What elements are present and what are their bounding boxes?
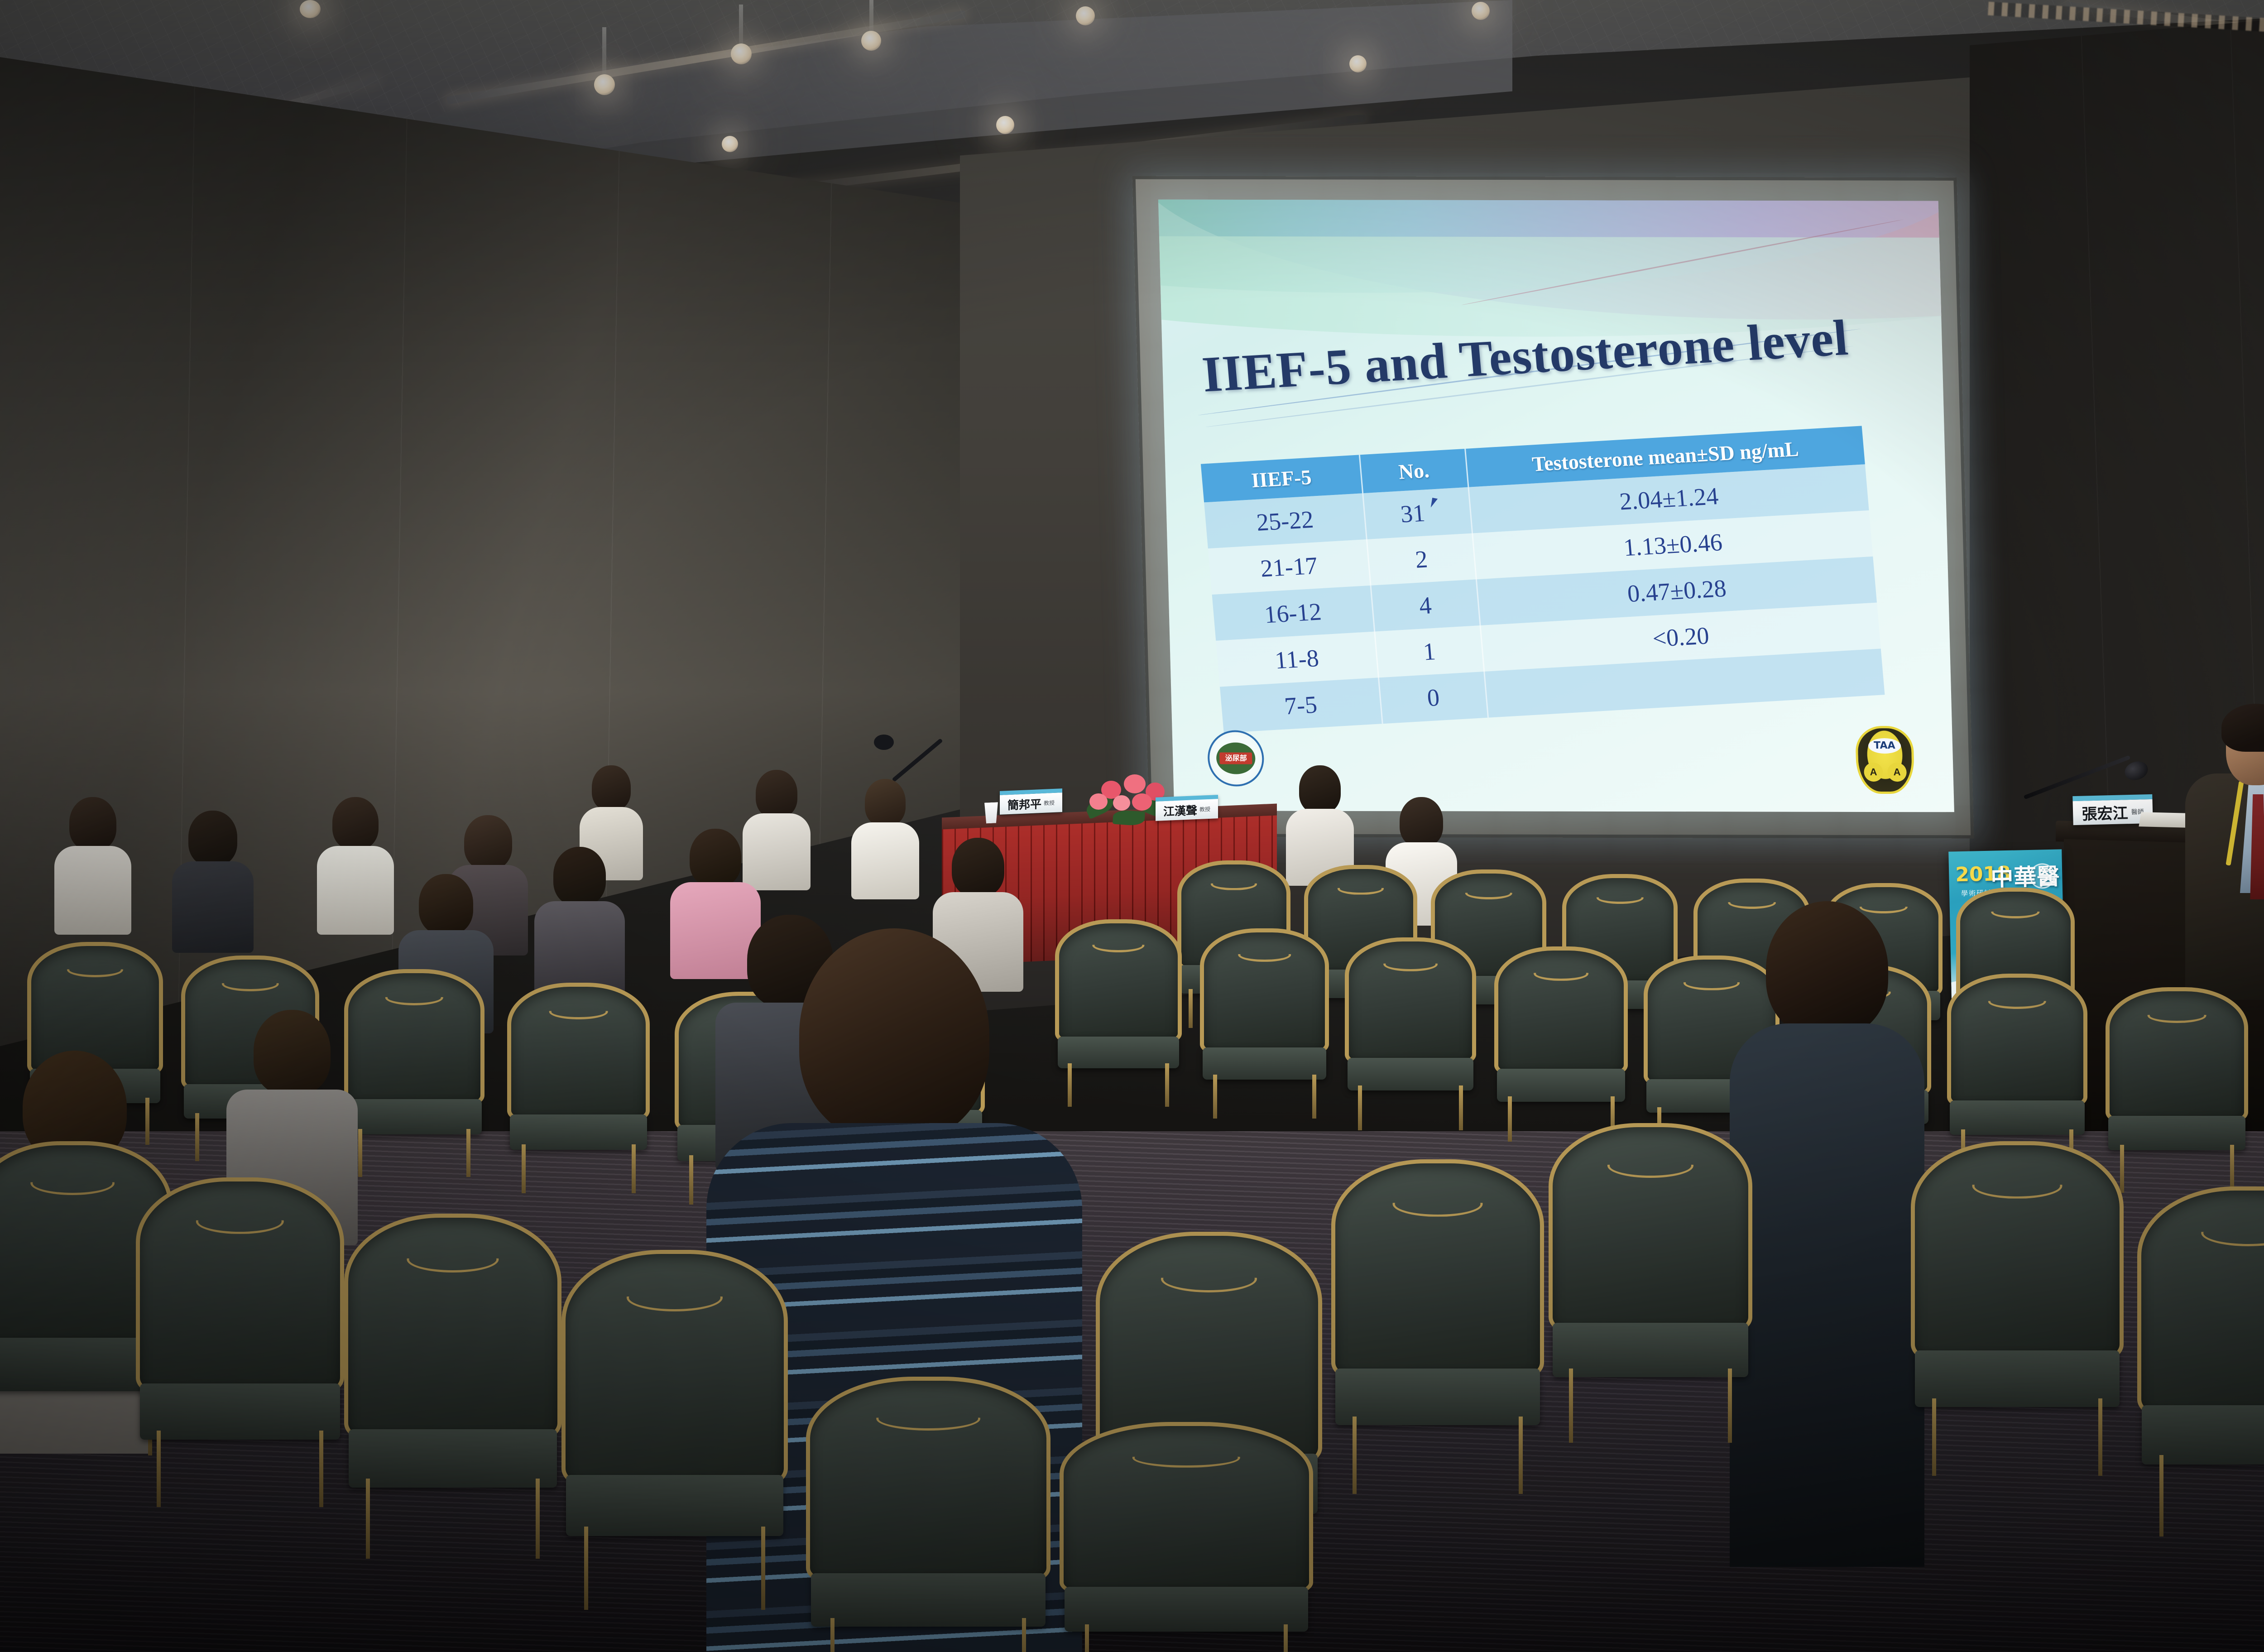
cell-no: 2 [1367,533,1476,586]
nameplate-name: 江漢聲 [1163,802,1197,819]
chair[interactable] [1200,928,1329,1098]
chair[interactable] [1549,1123,1752,1408]
audience-member-foreground [1730,901,1924,1580]
nameplate-title: 教授 [1199,805,1210,813]
cell-iief5: 11-8 [1216,632,1378,687]
pendant-downlight [861,31,881,51]
pendant-downlight [1472,2,1490,20]
chair[interactable] [561,1250,788,1571]
chair[interactable] [1911,1141,2124,1440]
taa-circle-left: A [1864,762,1883,781]
logo-oval: 泌尿部 [1216,742,1256,774]
pendant-stem [602,27,606,77]
cell-iief5: 7-5 [1220,677,1382,733]
projected-slide: IIEF-5 and Testosterone level IIEF-5 No.… [1158,200,1954,812]
chair[interactable] [1947,974,2087,1155]
ntuh-urology-logo-icon: 泌尿部 [1207,730,1265,786]
chair[interactable] [1331,1159,1544,1458]
pendant-downlight [722,136,738,152]
pendant-downlight [1076,6,1095,25]
pendant-downlight [594,74,615,95]
audience-member [851,779,919,897]
taa-circle-right: A [1887,763,1907,782]
cell-no: 1 [1374,625,1484,677]
speaker-name: 張宏江 [2082,801,2128,824]
pendant-downlight [300,0,321,18]
cell-iief5: 25-22 [1204,493,1367,548]
taa-andrology-logo-icon: TAA A A [1855,725,1915,793]
pendant-downlight [996,116,1014,134]
chair[interactable] [1494,946,1628,1121]
cell-iief5: 16-12 [1212,586,1374,641]
cell-no: 4 [1371,579,1480,631]
chair[interactable] [2106,987,2248,1171]
taa-center-text: TAA [1868,738,1901,754]
microphone-head-icon [874,735,894,750]
testosterone-table: IIEF-5 No. Testosterone mean±SD ng/mL 25… [1201,426,1885,733]
presenter [2169,684,2264,1001]
conference-room-scene: IIEF-5 and Testosterone level IIEF-5 No.… [0,0,2264,1652]
pendant-stem [739,5,743,46]
pendant-downlight [1349,55,1367,72]
chair[interactable] [2137,1186,2264,1499]
audience-member [54,797,131,933]
audience-member [317,797,394,933]
audience-member [172,811,254,951]
logo-band-text: 泌尿部 [1219,753,1252,764]
cell-no: 31 [1362,487,1472,539]
chair[interactable] [136,1177,344,1472]
chair[interactable] [344,1214,561,1522]
audience-member [534,847,625,1001]
chair[interactable] [344,969,484,1155]
chair[interactable] [1060,1422,1313,1652]
nameplate-title: 教授 [1044,799,1055,807]
pendant-downlight [731,43,752,64]
head-table-nameplate: 簡邦平 教授 [1000,788,1062,815]
nameplate-name: 簡邦平 [1007,795,1041,813]
cell-no: 0 [1378,672,1488,724]
pendant-stem [869,0,873,34]
cell-iief5: 21-17 [1208,539,1371,595]
chair[interactable] [507,983,650,1171]
head-table-nameplate: 江漢聲 教授 [1156,795,1218,821]
chair[interactable] [806,1377,1050,1652]
projection-screen[interactable]: IIEF-5 and Testosterone level IIEF-5 No.… [1132,176,1974,839]
chair[interactable] [1345,937,1476,1109]
column-header-no: No. [1359,449,1468,493]
presenter-hair [2221,704,2264,752]
mouse-pointer-icon [1430,498,1441,509]
